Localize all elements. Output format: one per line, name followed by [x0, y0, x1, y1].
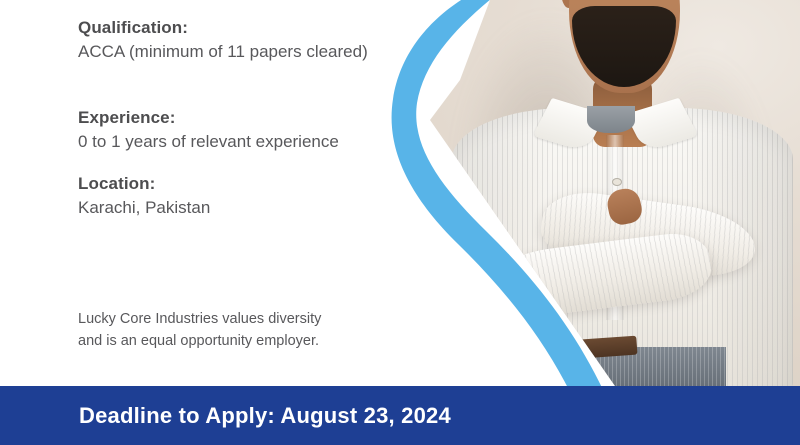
detail-qualification-value: ACCA (minimum of 11 papers cleared)	[78, 41, 368, 62]
diversity-statement-line-2: and is an equal opportunity employer.	[78, 330, 408, 352]
detail-qualification: Qualification: ACCA (minimum of 11 paper…	[78, 18, 368, 62]
detail-experience: Experience: 0 to 1 years of relevant exp…	[78, 108, 339, 152]
diversity-statement: Lucky Core Industries values diversity a…	[78, 308, 408, 352]
wrist	[473, 255, 503, 282]
collar-opening	[587, 106, 635, 133]
deadline-text: Deadline to Apply: August 23, 2024	[79, 403, 451, 429]
candidate-photo	[430, 0, 800, 386]
wristwatch	[490, 257, 519, 281]
detail-location-value: Karachi, Pakistan	[78, 197, 210, 218]
person-figure	[430, 0, 800, 386]
detail-experience-value: 0 to 1 years of relevant experience	[78, 131, 339, 152]
detail-experience-label: Experience:	[78, 108, 339, 128]
detail-qualification-label: Qualification:	[78, 18, 368, 38]
deadline-banner: Deadline to Apply: August 23, 2024	[0, 386, 800, 445]
job-posting-poster: Qualification: ACCA (minimum of 11 paper…	[0, 0, 800, 445]
detail-location: Location: Karachi, Pakistan	[78, 174, 210, 218]
diversity-statement-line-1: Lucky Core Industries values diversity	[78, 308, 408, 330]
detail-location-label: Location:	[78, 174, 210, 194]
shirt-button	[612, 178, 622, 186]
